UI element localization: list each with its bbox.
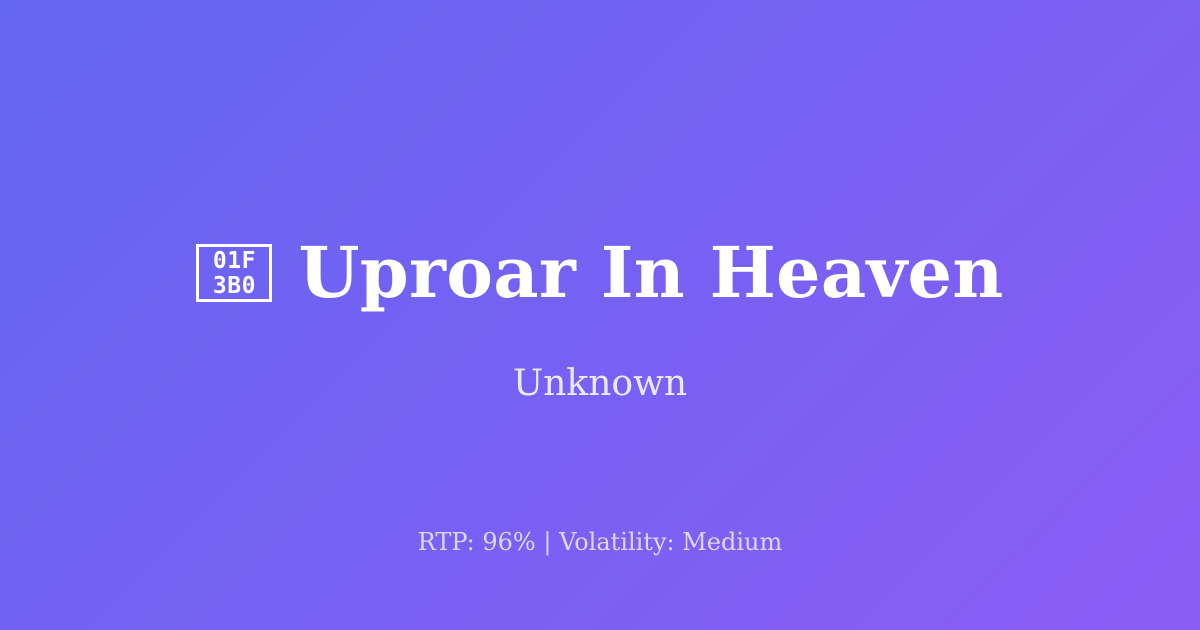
codepoint-hex-top: 01F <box>213 249 256 274</box>
game-provider: Unknown <box>0 362 1200 406</box>
title-row: 01F 3B0 Uproar In Heaven <box>0 234 1200 312</box>
codepoint-hex-bottom: 3B0 <box>213 274 256 299</box>
game-stats: RTP: 96% | Volatility: Medium <box>0 527 1200 557</box>
game-preview-card: 01F 3B0 Uproar In Heaven Unknown RTP: 96… <box>0 0 1200 630</box>
game-title: Uproar In Heaven <box>298 234 1003 312</box>
slot-machine-icon: 01F 3B0 <box>196 244 272 302</box>
